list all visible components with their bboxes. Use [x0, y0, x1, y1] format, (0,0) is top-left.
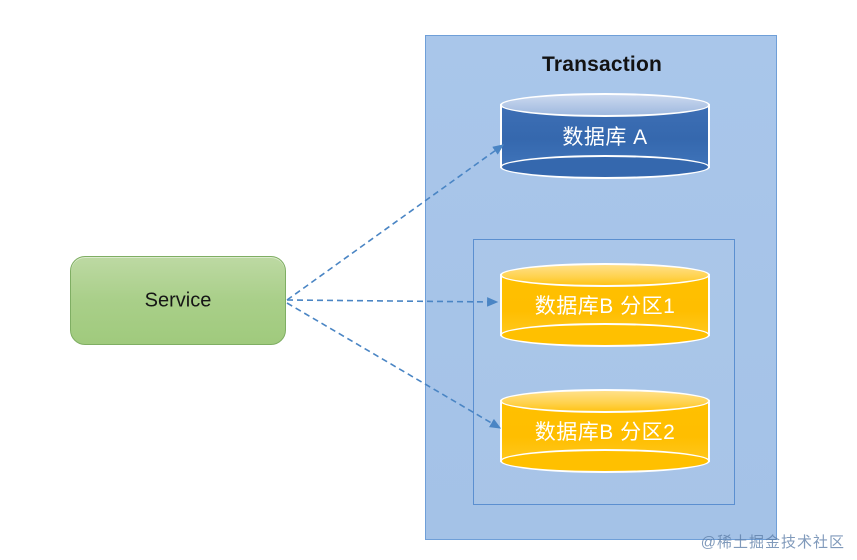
cylinder-bottom-ellipse: [500, 449, 710, 473]
cylinder-top-ellipse: [500, 263, 710, 287]
service-node: Service: [70, 256, 286, 345]
database-a-label: 数据库 A: [500, 121, 710, 151]
cylinder-bottom-ellipse: [500, 323, 710, 347]
watermark-text: @稀土掘金技术社区: [701, 531, 845, 552]
database-b-partition-1-cylinder: 数据库B 分区1: [500, 263, 710, 347]
database-b-partition-2-cylinder: 数据库B 分区2: [500, 389, 710, 473]
transaction-title: Transaction: [426, 53, 778, 77]
cylinder-bottom-ellipse: [500, 155, 710, 179]
cylinder-top-ellipse: [500, 93, 710, 117]
database-a-cylinder: 数据库 A: [500, 93, 710, 179]
cylinder-top-ellipse: [500, 389, 710, 413]
service-label: Service: [71, 289, 285, 312]
diagram-canvas: Transaction 数据库 A 数据库B 分区1 数据库B 分区2 Serv…: [0, 0, 857, 560]
database-b-partition-1-label: 数据库B 分区1: [500, 290, 710, 320]
database-b-partition-2-label: 数据库B 分区2: [500, 416, 710, 446]
